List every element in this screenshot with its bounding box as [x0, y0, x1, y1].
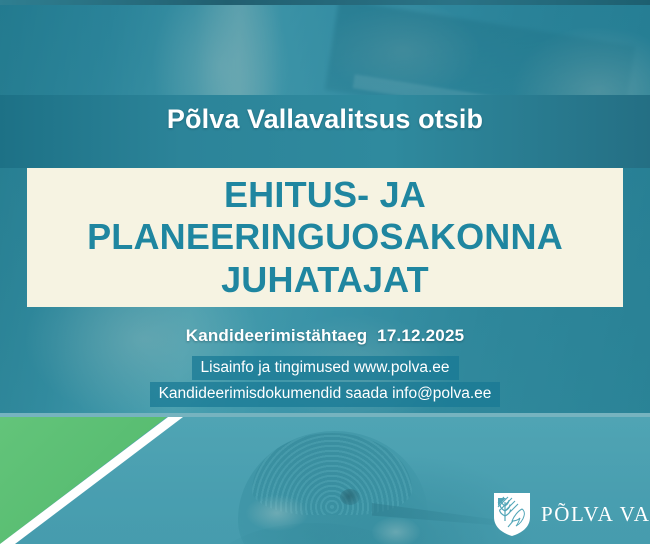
- info-line-email: Kandideerimisdokumendid saada info@polva…: [150, 382, 501, 406]
- job-advertisement-poster: Põlva Vallavalitsus otsib EHITUS- JA PLA…: [0, 0, 650, 544]
- application-deadline: Kandideerimistähtaeg 17.12.2025: [0, 326, 650, 346]
- info-line-website: Lisainfo ja tingimused www.polva.ee: [192, 356, 459, 380]
- band-divider-line: [0, 413, 650, 417]
- title-panel: EHITUS- JA PLANEERINGUOSAKONNA JUHATAJAT: [27, 168, 623, 307]
- polva-vald-shield-icon: [492, 491, 532, 537]
- position-title: EHITUS- JA PLANEERINGUOSAKONNA JUHATAJAT: [77, 174, 573, 300]
- logo-wordmark: PÕLVA VALD: [541, 502, 650, 527]
- polva-vald-logo: PÕLVA VALD: [492, 491, 650, 537]
- top-edge-strip: [0, 0, 650, 5]
- poster-heading: Põlva Vallavalitsus otsib: [0, 104, 650, 135]
- contact-info-block: Lisainfo ja tingimused www.polva.ee Kand…: [0, 356, 650, 407]
